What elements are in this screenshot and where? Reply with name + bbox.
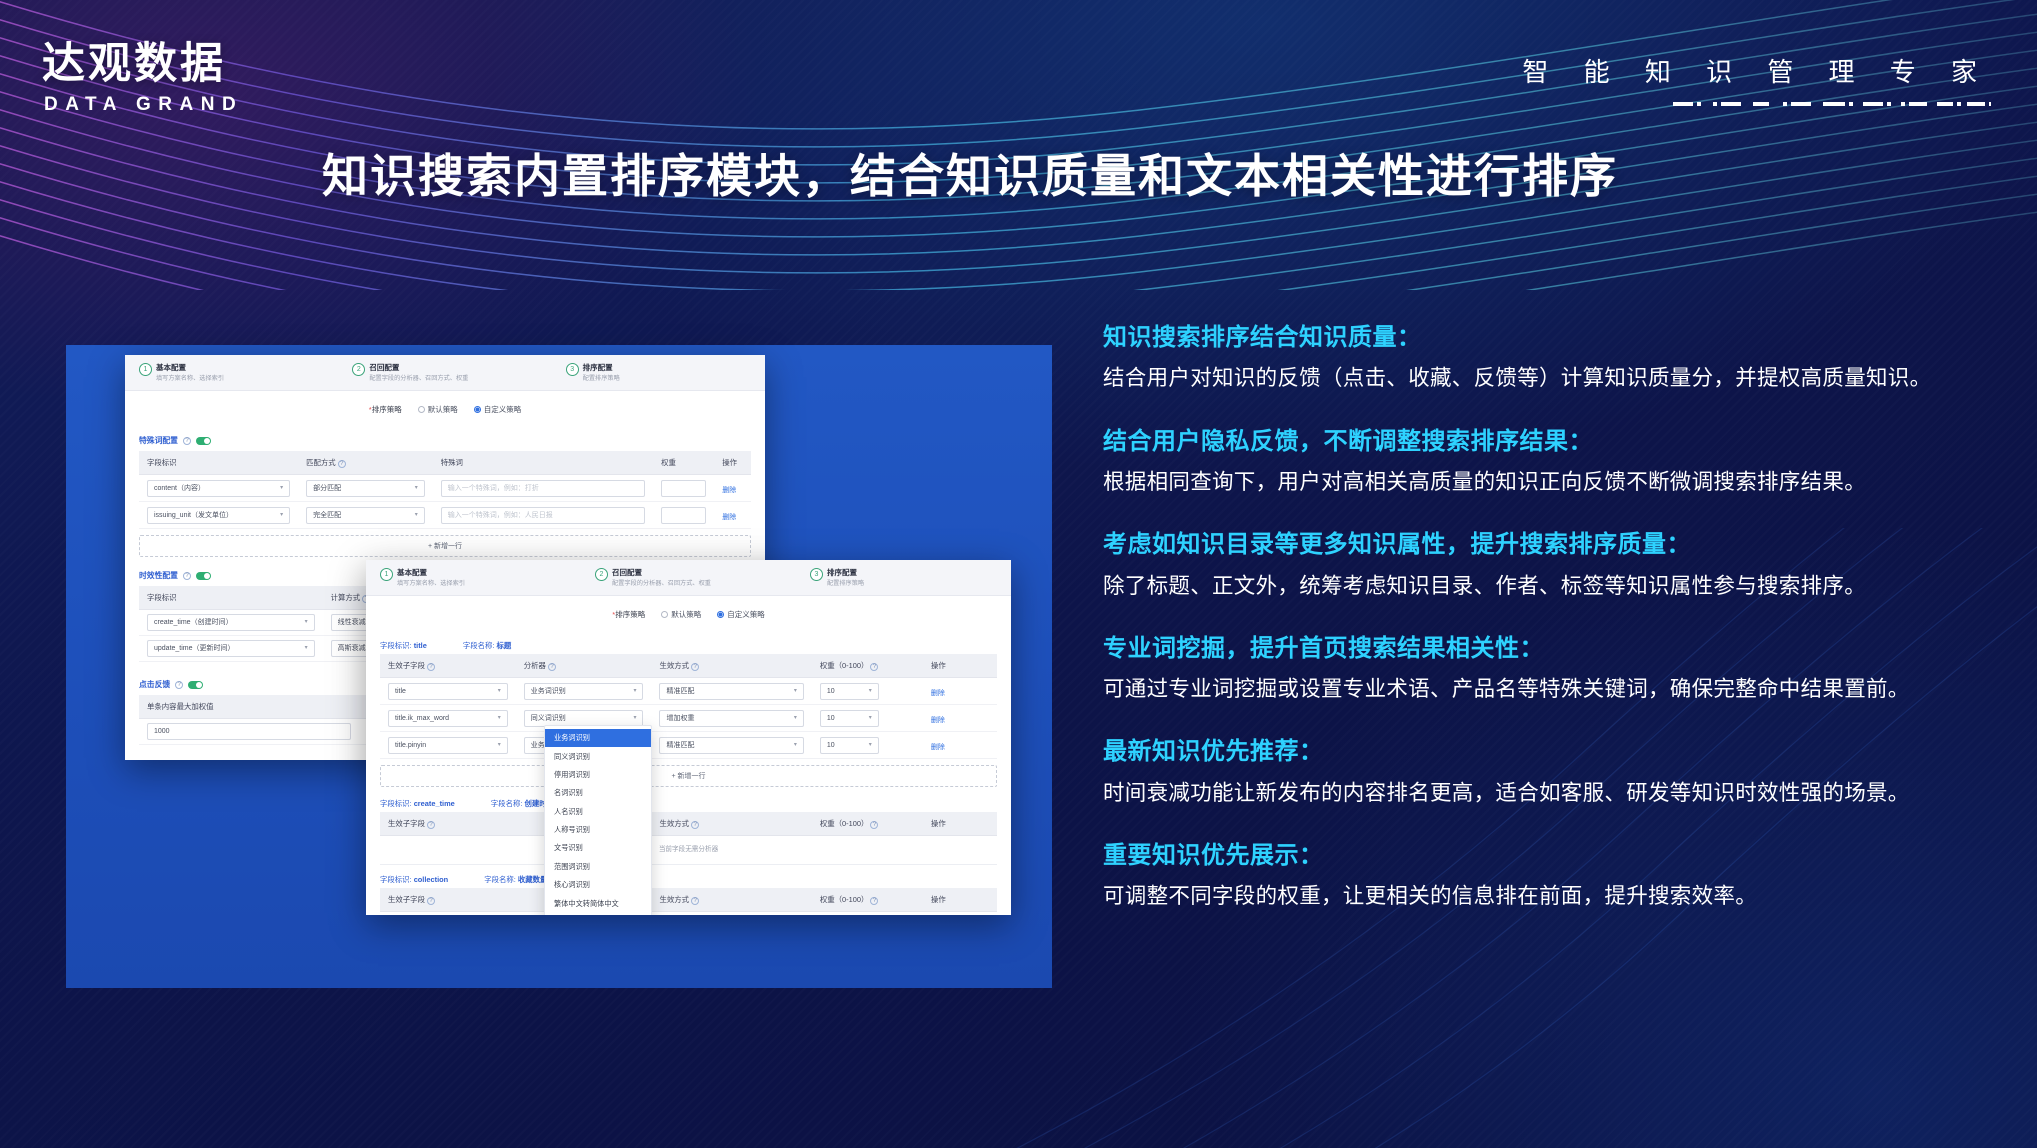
empty-note-create-time: 当前字段无需分析器	[366, 836, 1011, 862]
radio-label-default: 默认策略	[671, 609, 701, 620]
brand-logo: 达观数据 DATA GRAND	[42, 42, 243, 116]
select-subfield[interactable]: title.ik_max_word▾	[388, 710, 508, 727]
bullet-item: 考虑如知识目录等更多知识属性，提升搜索排序质量： 除了标题、正文外，统筹考虑知识…	[1103, 529, 2003, 602]
slide-canvas: 达观数据 DATA GRAND 智 能 知 识 管 理 专 家 知识搜索内置排序…	[0, 0, 2037, 1148]
field-name-value: 标题	[497, 641, 512, 650]
input-weight[interactable]	[661, 480, 706, 497]
step-number-2: 2	[352, 363, 365, 376]
delete-row-link[interactable]: 删除	[931, 690, 945, 697]
delete-row-link[interactable]: 删除	[722, 514, 736, 521]
select-field-id[interactable]: update_time（更新时间）▾	[147, 640, 315, 657]
radio-label-custom: 自定义策略	[484, 404, 522, 415]
bullet-item: 知识搜索排序结合知识质量： 结合用户对知识的反馈（点击、收藏、反馈等）计算知识质…	[1103, 322, 2003, 395]
th-subfield: 生效子字段 ?	[380, 812, 516, 836]
menu-item-analyzer-7[interactable]: 范围词识别	[545, 858, 651, 876]
step-title-3: 排序配置	[583, 362, 620, 373]
step-title-1: 基本配置	[156, 362, 224, 373]
section-title-special-words: 特殊词配置	[139, 435, 178, 446]
bullet-list: 知识搜索排序结合知识质量： 结合用户对知识的反馈（点击、收藏、反馈等）计算知识质…	[1103, 322, 2003, 943]
select-field-id[interactable]: content（内容）▾	[147, 480, 290, 497]
help-icon[interactable]: ?	[427, 663, 435, 671]
help-icon[interactable]: ?	[691, 897, 699, 905]
menu-item-analyzer-2[interactable]: 停用词识别	[545, 766, 651, 784]
radio-icon-default	[418, 406, 425, 413]
select-match-mode[interactable]: 部分匹配▾	[306, 480, 425, 497]
step-desc-3: 配置排序策略	[583, 374, 620, 384]
step-desc-2: 配置字段的分析器、召回方式、权重	[612, 579, 711, 589]
th-weight: 权重（0-100） ?	[812, 654, 923, 678]
input-special-word[interactable]: 输入一个特殊词，例如：人民日报	[441, 507, 645, 524]
delete-row-link[interactable]: 删除	[931, 744, 945, 751]
toggle-click-feedback[interactable]	[188, 681, 203, 689]
input-special-word[interactable]: 输入一个特殊词，例如：打折	[441, 480, 645, 497]
field-header-title: 字段标识: title 字段名称: 标题	[366, 633, 1011, 654]
step-number-3: 3	[566, 363, 579, 376]
add-row-button-title[interactable]: + 新增一行	[380, 765, 997, 787]
delete-row-link[interactable]: 删除	[722, 487, 736, 494]
select-field-id[interactable]: issuing_unit（发文单位）▾	[147, 507, 290, 524]
bullet-heading: 最新知识优先推荐：	[1103, 736, 2003, 768]
table-row: title.ik_max_word▾ 同义词识别▾ 增加权重▾ 10▾ 删除	[380, 705, 997, 732]
radio-default-strategy[interactable]: 默认策略	[661, 609, 701, 620]
strategy-selector-back: *排序策略 默认策略 自定义策略	[125, 391, 765, 428]
step-desc-1: 填写方案名称、选择索引	[156, 374, 224, 384]
th-weight: 权重（0-100） ?	[812, 812, 923, 836]
bullet-body: 结合用户对知识的反馈（点击、收藏、反馈等）计算知识质量分，并提权高质量知识。	[1103, 363, 2003, 394]
field-header-create-time: 字段标识: create_time 字段名称: 创建时间	[366, 791, 1011, 812]
radio-icon-custom	[474, 406, 481, 413]
bullet-body: 可调整不同字段的权重，让更相关的信息排在前面，提升搜索效率。	[1103, 881, 2003, 912]
analyzer-dropdown-menu[interactable]: 业务词识别 同义词识别 停用词识别 名词识别 人名识别 人称号识别 文号识别 范…	[544, 725, 652, 915]
brand-name-en: DATA GRAND	[44, 94, 243, 116]
divider	[380, 864, 997, 865]
field-name-label: 字段名称:	[491, 799, 523, 808]
step-desc-3: 配置排序策略	[827, 579, 864, 589]
select-weight[interactable]: 10▾	[820, 710, 879, 727]
select-weight[interactable]: 10▾	[820, 737, 879, 754]
bullet-heading: 知识搜索排序结合知识质量：	[1103, 322, 2003, 354]
field-id-label: 字段标识:	[380, 875, 412, 884]
th-match-mode: 匹配方式 ?	[298, 451, 433, 475]
help-icon[interactable]: ?	[548, 663, 556, 671]
field-name-label: 字段名称:	[463, 641, 495, 650]
step-desc-1: 填写方案名称、选择索引	[397, 579, 465, 589]
th-subfield: 生效子字段 ?	[380, 654, 516, 678]
radio-custom-strategy[interactable]: 自定义策略	[474, 404, 522, 415]
step-number-1: 1	[380, 568, 393, 581]
step-title-3: 排序配置	[827, 567, 864, 578]
brand-name-cn: 达观数据	[42, 42, 243, 87]
strategy-label: *排序策略	[369, 404, 402, 415]
menu-item-analyzer-10[interactable]: 拼音简拼	[545, 913, 651, 915]
select-field-id[interactable]: create_time（创建时间）▾	[147, 614, 315, 631]
bullet-body: 根据相同查询下，用户对高相关高质量的知识正向反馈不断微调搜索排序结果。	[1103, 467, 2003, 498]
select-effect-mode[interactable]: 精准匹配▾	[659, 737, 803, 754]
step-title-2: 召回配置	[612, 567, 711, 578]
th-action: 操作	[714, 451, 751, 475]
table-subfields-title: 生效子字段 ? 分析器 ? 生效方式 ? 权重（0-100） ? 操作 titl…	[380, 654, 997, 759]
bullet-heading: 重要知识优先展示：	[1103, 840, 2003, 872]
th-weight: 权重	[653, 451, 714, 475]
step-number-2: 2	[595, 568, 608, 581]
tagline-block: 智 能 知 识 管 理 专 家	[1522, 52, 1991, 113]
menu-item-analyzer-4[interactable]: 人名识别	[545, 803, 651, 821]
strategy-selector-front: *排序策略 默认策略 自定义策略	[366, 596, 1011, 633]
select-analyzer[interactable]: 业务词识别▾	[524, 683, 644, 700]
radio-icon-custom	[717, 611, 724, 618]
field-id-value: create_time	[414, 799, 455, 808]
section-title-click-feedback: 点击反馈	[139, 679, 170, 690]
th-max-boost: 单条内容最大加权值	[139, 695, 359, 719]
step-basic-config[interactable]: 1 基本配置 填写方案名称、选择索引	[366, 567, 581, 589]
tagline-text: 智 能 知 识 管 理 专 家	[1522, 52, 1991, 89]
menu-item-analyzer-9[interactable]: 繁体中文转简体中文	[545, 894, 651, 912]
step-bar-front: 1 基本配置 填写方案名称、选择索引 2 召回配置 配置字段的分析器、召回方式、…	[366, 560, 1011, 596]
add-row-button-special-words[interactable]: + 新增一行	[139, 535, 751, 557]
section-special-words: 特殊词配置 ?	[125, 428, 765, 451]
th-subfield: 生效子字段 ?	[380, 888, 516, 912]
field-id-label: 字段标识:	[380, 641, 412, 650]
th-effect-mode: 生效方式 ?	[651, 812, 811, 836]
field-id-value: title	[414, 641, 427, 650]
toggle-special-words[interactable]	[196, 437, 211, 445]
step-recall-config[interactable]: 2 召回配置 配置字段的分析器、召回方式、权重	[581, 567, 796, 589]
radio-icon-default	[661, 611, 668, 618]
step-title-2: 召回配置	[369, 362, 468, 373]
step-bar-back: 1 基本配置 填写方案名称、选择索引 2 召回配置 配置字段的分析器、召回方式、…	[125, 355, 765, 391]
field-name-label: 字段名称:	[484, 875, 516, 884]
bullet-item: 专业词挖掘，提升首页搜索结果相关性： 可通过专业词挖掘或设置专业术语、产品名等特…	[1103, 633, 2003, 706]
table-subfields-collection: 生效子字段 ? 生效方式 ? 权重（0-100） ? 操作	[380, 888, 997, 912]
th-field-id: 字段标识	[139, 451, 298, 475]
help-icon[interactable]: ?	[175, 681, 183, 689]
help-icon[interactable]: ?	[870, 897, 878, 905]
delete-row-link[interactable]: 删除	[931, 717, 945, 724]
step-sort-config[interactable]: 3 排序配置 配置排序策略	[552, 362, 765, 384]
help-icon[interactable]: ?	[427, 897, 435, 905]
bullet-heading: 结合用户隐私反馈，不断调整搜索排序结果：	[1103, 426, 2003, 458]
menu-item-analyzer-0[interactable]: 业务词识别	[545, 729, 651, 747]
th-field-id: 字段标识	[139, 586, 323, 610]
help-icon[interactable]: ?	[691, 821, 699, 829]
input-max-boost[interactable]: 1000	[147, 723, 351, 740]
bullet-item: 重要知识优先展示： 可调整不同字段的权重，让更相关的信息排在前面，提升搜索效率。	[1103, 840, 2003, 913]
step-recall-config[interactable]: 2 召回配置 配置字段的分析器、召回方式、权重	[338, 362, 551, 384]
select-weight[interactable]: 10▾	[820, 683, 879, 700]
app-window-front: 1 基本配置 填写方案名称、选择索引 2 召回配置 配置字段的分析器、召回方式、…	[366, 560, 1011, 915]
radio-label-custom: 自定义策略	[727, 609, 765, 620]
table-subfields-create-time: 生效子字段 ? 生效方式 ? 权重（0-100） ? 操作	[380, 812, 997, 836]
table-row: title▾ 业务词识别▾ 精准匹配▾ 10▾ 删除	[380, 678, 997, 705]
th-analyzer: 分析器 ?	[516, 654, 652, 678]
radio-custom-strategy[interactable]: 自定义策略	[717, 609, 765, 620]
bullet-heading: 考虑如知识目录等更多知识属性，提升搜索排序质量：	[1103, 529, 2003, 561]
th-action: 操作	[923, 812, 997, 836]
menu-item-analyzer-1[interactable]: 同义词识别	[545, 747, 651, 765]
th-action: 操作	[923, 654, 997, 678]
step-number-3: 3	[810, 568, 823, 581]
field-id-value: collection	[414, 875, 449, 884]
section-title-timeliness: 时效性配置	[139, 570, 178, 581]
bullet-item: 最新知识优先推荐： 时间衰减功能让新发布的内容排名更高，适合如客服、研发等知识时…	[1103, 736, 2003, 809]
field-id-label: 字段标识:	[380, 799, 412, 808]
select-subfield[interactable]: title▾	[388, 683, 508, 700]
bullet-heading: 专业词挖掘，提升首页搜索结果相关性：	[1103, 633, 2003, 665]
select-subfield[interactable]: title.pinyin▾	[388, 737, 508, 754]
select-effect-mode[interactable]: 精准匹配▾	[659, 683, 803, 700]
bullet-body: 可通过专业词挖掘或设置专业术语、产品名等特殊关键词，确保完整命中结果置前。	[1103, 674, 2003, 705]
help-icon[interactable]: ?	[183, 572, 191, 580]
th-special-word: 特殊词	[433, 451, 653, 475]
th-effect-mode: 生效方式 ?	[651, 888, 811, 912]
bullet-body: 时间衰减功能让新发布的内容排名更高，适合如客服、研发等知识时效性强的场景。	[1103, 778, 2003, 809]
strategy-label: *排序策略	[612, 609, 645, 620]
help-icon[interactable]: ?	[427, 821, 435, 829]
table-row: issuing_unit（发文单位）▾ 完全匹配▾ 输入一个特殊词，例如：人民日…	[139, 502, 751, 529]
radio-label-default: 默认策略	[428, 404, 458, 415]
th-weight: 权重（0-100） ?	[812, 888, 923, 912]
menu-item-analyzer-8[interactable]: 核心词识别	[545, 876, 651, 894]
step-number-1: 1	[139, 363, 152, 376]
toggle-timeliness[interactable]	[196, 572, 211, 580]
th-effect-mode: 生效方式 ?	[651, 654, 811, 678]
help-icon[interactable]: ?	[338, 460, 346, 468]
empty-note-collection: 当前字段无需分析器	[366, 912, 1011, 915]
help-icon[interactable]: ?	[870, 663, 878, 671]
tagline-dash-rule	[1673, 101, 1991, 108]
help-icon[interactable]: ?	[183, 437, 191, 445]
help-icon[interactable]: ?	[691, 663, 699, 671]
menu-item-analyzer-3[interactable]: 名词识别	[545, 784, 651, 802]
select-match-mode[interactable]: 完全匹配▾	[306, 507, 425, 524]
menu-item-analyzer-6[interactable]: 文号识别	[545, 839, 651, 857]
help-icon[interactable]: ?	[870, 821, 878, 829]
input-weight[interactable]	[661, 507, 706, 524]
step-sort-config[interactable]: 3 排序配置 配置排序策略	[796, 567, 1011, 589]
radio-default-strategy[interactable]: 默认策略	[418, 404, 458, 415]
step-title-1: 基本配置	[397, 567, 465, 578]
table-special-words: 字段标识 匹配方式 ? 特殊词 权重 操作 content（内容）▾ 部分匹配▾…	[139, 451, 751, 529]
step-desc-2: 配置字段的分析器、召回方式、权重	[369, 374, 468, 384]
select-effect-mode[interactable]: 增加权重▾	[659, 710, 803, 727]
step-basic-config[interactable]: 1 基本配置 填写方案名称、选择索引	[125, 362, 338, 384]
table-row: title.pinyin▾ 业务词识别▾ 精准匹配▾ 10▾ 删除	[380, 732, 997, 759]
menu-item-analyzer-5[interactable]: 人称号识别	[545, 821, 651, 839]
page-title: 知识搜索内置排序模块，结合知识质量和文本相关性进行排序	[322, 140, 1618, 206]
table-row: content（内容）▾ 部分匹配▾ 输入一个特殊词，例如：打折 删除	[139, 475, 751, 502]
bullet-item: 结合用户隐私反馈，不断调整搜索排序结果： 根据相同查询下，用户对高相关高质量的知…	[1103, 426, 2003, 499]
field-header-collection: 字段标识: collection 字段名称: 收藏数量	[366, 867, 1011, 888]
bullet-body: 除了标题、正文外，统筹考虑知识目录、作者、标签等知识属性参与搜索排序。	[1103, 571, 2003, 602]
th-action: 操作	[923, 888, 997, 912]
